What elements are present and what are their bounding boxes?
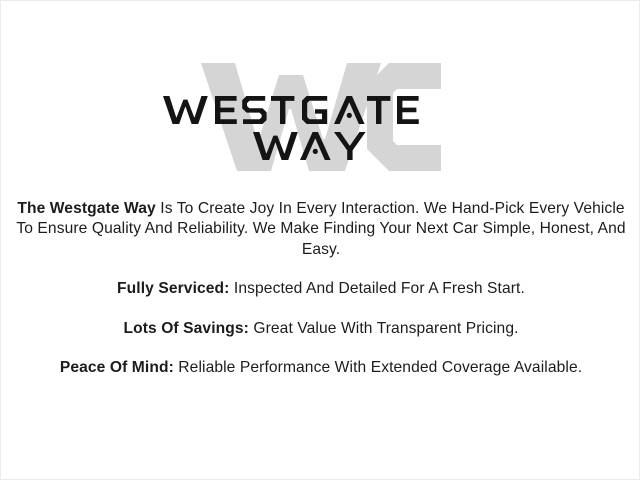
dealer-value-proposition-card: The Westgate Way Is To Create Joy In Eve… xyxy=(0,0,640,480)
intro-paragraph: The Westgate Way Is To Create Joy In Eve… xyxy=(13,199,629,260)
feature-lots-of-savings: Lots Of Savings: Great Value With Transp… xyxy=(13,319,629,339)
feature-lots-of-savings-lead: Lots Of Savings: xyxy=(123,320,249,337)
feature-fully-serviced-rest: Inspected And Detailed For A Fresh Start… xyxy=(229,280,524,297)
value-proposition-copy: The Westgate Way Is To Create Joy In Eve… xyxy=(1,199,640,378)
feature-fully-serviced: Fully Serviced: Inspected And Detailed F… xyxy=(13,279,629,299)
feature-lots-of-savings-rest: Great Value With Transparent Pricing. xyxy=(249,320,519,337)
feature-peace-of-mind: Peace Of Mind: Reliable Performance With… xyxy=(13,358,629,378)
intro-lead: The Westgate Way xyxy=(17,200,156,217)
wordmark-line-westgate xyxy=(161,93,481,127)
brand-logo xyxy=(1,53,640,181)
feature-peace-of-mind-rest: Reliable Performance With Extended Cover… xyxy=(174,359,582,376)
feature-peace-of-mind-lead: Peace Of Mind: xyxy=(60,359,174,376)
brand-wordmark xyxy=(1,53,640,181)
wordmark-line-way xyxy=(251,129,391,163)
feature-fully-serviced-lead: Fully Serviced: xyxy=(117,280,229,297)
